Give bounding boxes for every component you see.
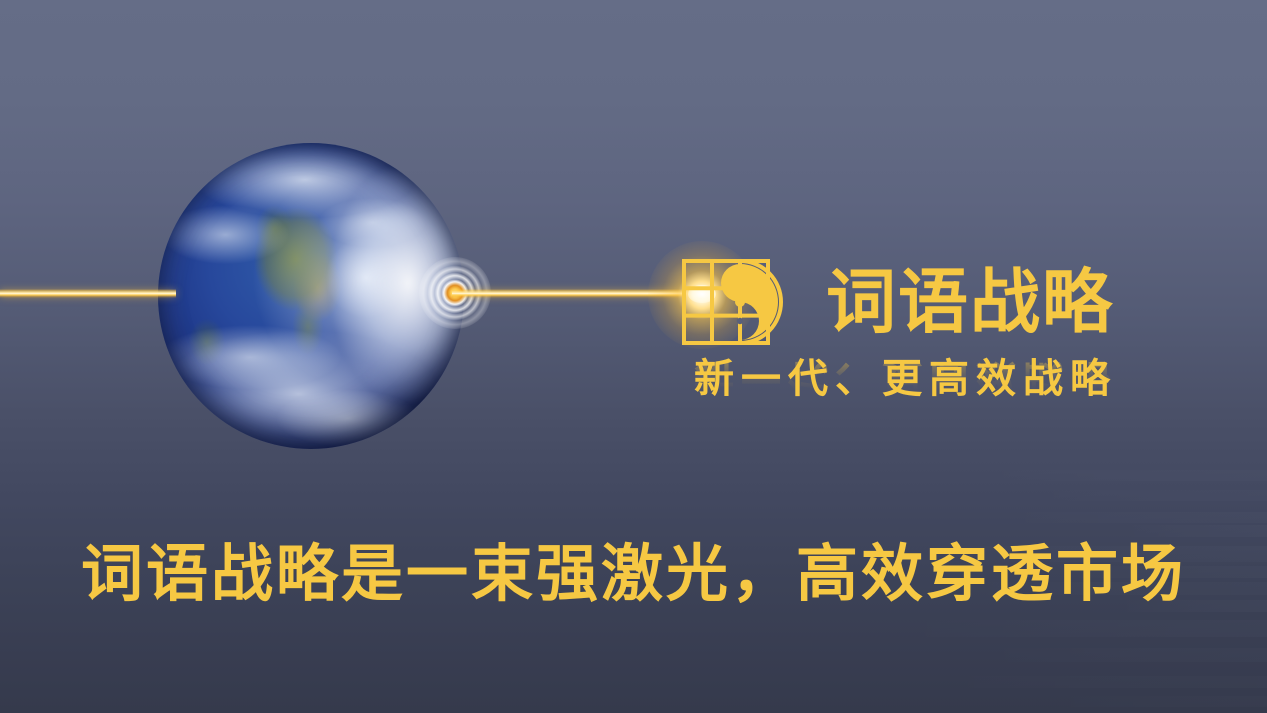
slide-headline: 词语战略是一束强激光，高效穿透市场 (0, 541, 1267, 609)
brand-lockup: 词语战略 新一代、更高效战略 新一代、更高效战略 (668, 252, 1228, 442)
speed-line-bar (927, 676, 1267, 688)
speed-line-bar (1119, 525, 1267, 537)
speed-line-bar (1021, 490, 1267, 501)
laser-beam-icon (0, 289, 176, 298)
speed-line-bar (971, 648, 1267, 662)
logo-row: 词语战略 (668, 252, 1228, 352)
brand-name: 词语战略 (826, 267, 1114, 337)
grid-circle-yinyang-logo-icon (668, 252, 808, 352)
speed-line-bar (997, 512, 1267, 523)
speed-line-bar (1039, 696, 1267, 707)
speed-line-bar (967, 470, 1267, 481)
globe-rim (158, 143, 464, 449)
brand-tagline: 新一代、更高效战略 (694, 358, 1228, 400)
speed-line-bar (887, 620, 1267, 637)
earth-globe-icon (158, 143, 464, 449)
presentation-slide: 词语战略 新一代、更高效战略 新一代、更高效战略 词语战略是一束强激光，高效穿透… (0, 0, 1267, 713)
